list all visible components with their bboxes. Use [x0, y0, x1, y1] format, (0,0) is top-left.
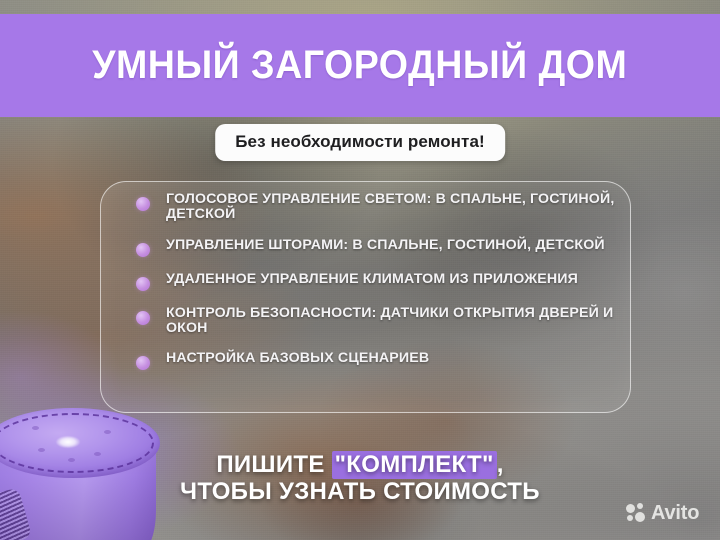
bullet-dot-icon — [136, 356, 150, 370]
features-list: ГОЛОСОВОЕ УПРАВЛЕНИЕ СВЕТОМ: В СПАЛЬНЕ, … — [136, 192, 636, 370]
list-item: НАСТРОЙКА БАЗОВЫХ СЦЕНАРИЕВ — [136, 351, 636, 370]
cta-line-2: ЧТОБЫ УЗНАТЬ СТОИМОСТЬ — [0, 479, 720, 506]
bullet-dot-icon — [136, 277, 150, 291]
list-item: УДАЛЕННОЕ УПРАВЛЕНИЕ КЛИМАТОМ ИЗ ПРИЛОЖЕ… — [136, 272, 636, 291]
list-item-label: КОНТРОЛЬ БЕЗОПАСНОСТИ: ДАТЧИКИ ОТКРЫТИЯ … — [166, 306, 636, 337]
speaker-button-mark — [104, 430, 111, 434]
call-to-action: ПИШИТЕ "КОМПЛЕКТ", ЧТОБЫ УЗНАТЬ СТОИМОСТ… — [0, 452, 720, 506]
list-item-label: УДАЛЕННОЕ УПРАВЛЕНИЕ КЛИМАТОМ ИЗ ПРИЛОЖЕ… — [166, 272, 578, 287]
cta-keyword-highlight: "КОМПЛЕКТ" — [332, 451, 497, 479]
cta-suffix: , — [497, 451, 504, 478]
speaker-button-mark — [32, 426, 39, 430]
list-item-label: УПРАВЛЕНИЕ ШТОРАМИ: В СПАЛЬНЕ, ГОСТИНОЙ,… — [166, 238, 605, 253]
avito-wordmark: Avito — [651, 503, 699, 523]
list-item: ГОЛОСОВОЕ УПРАВЛЕНИЕ СВЕТОМ: В СПАЛЬНЕ, … — [136, 192, 636, 223]
avito-watermark: Avito — [626, 503, 699, 523]
subtitle-badge-label: Без необходимости ремонта! — [235, 132, 485, 152]
bullet-dot-icon — [136, 197, 150, 211]
cta-prefix: ПИШИТЕ — [216, 451, 331, 478]
list-item-label: НАСТРОЙКА БАЗОВЫХ СЦЕНАРИЕВ — [166, 351, 429, 366]
page-title: УМНЫЙ ЗАГОРОДНЫЙ ДОМ — [92, 43, 627, 88]
cta-line-1: ПИШИТЕ "КОМПЛЕКТ", — [0, 452, 720, 479]
list-item: КОНТРОЛЬ БЕЗОПАСНОСТИ: ДАТЧИКИ ОТКРЫТИЯ … — [136, 306, 636, 337]
advertisement-canvas: УМНЫЙ ЗАГОРОДНЫЙ ДОМ Без необходимости р… — [0, 0, 720, 540]
list-item-label: ГОЛОСОВОЕ УПРАВЛЕНИЕ СВЕТОМ: В СПАЛЬНЕ, … — [166, 192, 636, 223]
list-item: УПРАВЛЕНИЕ ШТОРАМИ: В СПАЛЬНЕ, ГОСТИНОЙ,… — [136, 238, 636, 257]
subtitle-badge: Без необходимости ремонта! — [215, 124, 505, 161]
bullet-dot-icon — [136, 243, 150, 257]
bullet-dot-icon — [136, 311, 150, 325]
speaker-led-glow-icon — [56, 436, 80, 448]
avito-logo-icon — [626, 503, 646, 523]
headline-banner: УМНЫЙ ЗАГОРОДНЫЙ ДОМ — [0, 14, 720, 117]
